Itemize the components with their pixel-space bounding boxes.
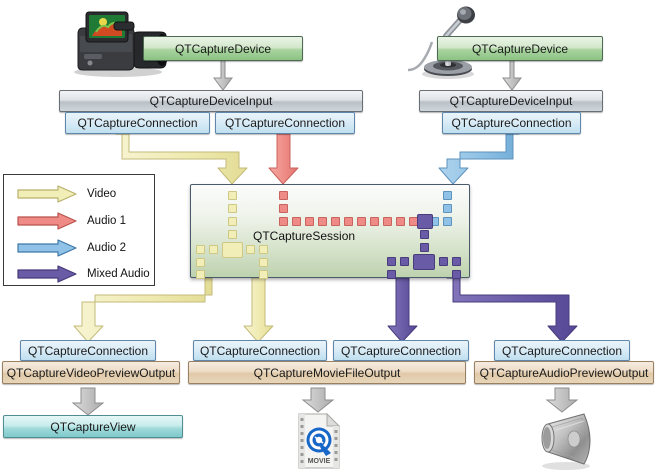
audio1-path-node	[370, 217, 379, 226]
video-path-node	[228, 204, 237, 213]
videopreview-connection-box[interactable]: QTCaptureConnection	[20, 340, 156, 361]
movie-file-icon-label: MOVIE	[308, 458, 331, 465]
audio2-connection-label: QTCaptureConnection	[451, 116, 571, 130]
arrow-audiopreview-to-speaker-icon	[547, 388, 577, 412]
arrow-session-to-moviefile-video	[244, 278, 273, 342]
movie-file-output-label: QTCaptureMovieFileOutput	[254, 366, 401, 380]
audiopreview-connection-label: QTCaptureConnection	[502, 344, 622, 358]
video-path-node	[259, 245, 268, 254]
moviefile-video-connection-label: QTCaptureConnection	[200, 344, 320, 358]
audio1-path-node	[344, 217, 353, 226]
arrow-audio2-to-session	[439, 134, 519, 184]
audio2-path-node	[443, 204, 452, 213]
mixed-audio-path-node	[387, 257, 396, 266]
arrow-session-to-moviefile-audio	[388, 278, 417, 342]
legend-arrow-mixed-audio-icon	[16, 265, 78, 283]
video-preview-output-label: QTCaptureVideoPreviewOutput	[7, 366, 176, 380]
video-path-node	[246, 245, 255, 254]
legend-arrow-video-icon	[16, 185, 78, 203]
legend-arrow-audio2-icon	[16, 239, 78, 257]
movie-file-output-box[interactable]: QTCaptureMovieFileOutput	[188, 361, 466, 384]
speaker-icon	[532, 410, 596, 472]
video-capture-device-label: QTCaptureDevice	[175, 42, 271, 56]
audio1-path-node	[396, 217, 405, 226]
video-capture-device-input-label: QTCaptureDeviceInput	[150, 94, 273, 108]
audio-capture-device-box[interactable]: QTCaptureDevice	[437, 36, 603, 61]
video-path-node	[196, 258, 205, 267]
qt-capture-session-label: QTCaptureSession	[253, 229, 355, 243]
audio1-path-node	[318, 217, 327, 226]
audio-capture-device-input-box[interactable]: QTCaptureDeviceInput	[419, 90, 603, 112]
video-path-node	[228, 230, 237, 239]
video-path-node	[196, 245, 205, 254]
audio-mixer-node	[417, 214, 433, 229]
audio1-path-node	[305, 217, 314, 226]
legend-panel: Video Audio 1 Audio 2 Mixed Audio	[3, 174, 155, 286]
moviefile-audio-connection-box[interactable]: QTCaptureConnection	[333, 340, 469, 361]
arrow-moviefile-to-file-icon	[303, 388, 333, 412]
video-capture-device-box[interactable]: QTCaptureDevice	[143, 36, 303, 61]
audio2-connection-box[interactable]: QTCaptureConnection	[442, 112, 581, 134]
qt-capture-view-label: QTCaptureView	[50, 420, 135, 434]
video-connection-label: QTCaptureConnection	[77, 116, 197, 130]
legend-label-mixed-audio: Mixed Audio	[87, 268, 150, 280]
mixed-audio-path-node	[452, 257, 461, 266]
videopreview-connection-label: QTCaptureConnection	[28, 344, 148, 358]
video-connection-box[interactable]: QTCaptureConnection	[65, 112, 210, 134]
arrow-videopreview-to-view	[73, 388, 103, 415]
qt-capture-session-box[interactable]: QTCaptureSession	[190, 184, 470, 278]
legend-label-video: Video	[87, 188, 116, 200]
mixed-audio-path-node	[420, 243, 429, 252]
video-path-node	[228, 217, 237, 226]
arrow-video-device-to-input	[214, 60, 232, 90]
diagram-canvas: QTCaptureDevice QTCaptureDeviceInput QTC…	[0, 0, 656, 476]
mixed-audio-path-node	[439, 257, 448, 266]
arrow-session-to-videopreview	[74, 278, 212, 342]
arrow-audio-device-to-input	[503, 60, 521, 90]
mixed-audio-path-node	[400, 257, 409, 266]
audio2-path-node	[443, 191, 452, 200]
audio1-connection-box[interactable]: QTCaptureConnection	[215, 112, 355, 134]
legend-label-audio2: Audio 2	[87, 242, 126, 254]
audio1-path-node	[292, 217, 301, 226]
audio1-path-node	[279, 217, 288, 226]
video-path-node	[228, 191, 237, 200]
moviefile-video-connection-box[interactable]: QTCaptureConnection	[193, 340, 327, 361]
mixed-audio-path-node	[452, 270, 461, 279]
arrow-audio1-to-session	[269, 134, 298, 184]
mixed-audio-path-node	[387, 270, 396, 279]
audio1-path-node	[383, 217, 392, 226]
audio1-path-node	[279, 191, 288, 200]
legend-arrow-audio1-icon	[16, 212, 78, 230]
mixed-audio-path-junction	[413, 254, 435, 270]
video-path-junction	[222, 242, 243, 258]
audio1-path-node	[331, 217, 340, 226]
video-capture-device-input-box[interactable]: QTCaptureDeviceInput	[59, 90, 363, 112]
audio-preview-output-label: QTCaptureAudioPreviewOutput	[480, 366, 649, 380]
legend-label-audio1: Audio 1	[87, 215, 126, 227]
audio-capture-device-input-label: QTCaptureDeviceInput	[450, 94, 573, 108]
audiopreview-connection-box[interactable]: QTCaptureConnection	[494, 340, 630, 361]
video-path-node	[209, 245, 218, 254]
audio1-path-node	[357, 217, 366, 226]
mixed-audio-path-node	[420, 230, 429, 239]
audio-capture-device-label: QTCaptureDevice	[472, 42, 568, 56]
audio1-path-node	[279, 204, 288, 213]
video-path-node	[259, 258, 268, 267]
video-preview-output-box[interactable]: QTCaptureVideoPreviewOutput	[2, 361, 180, 384]
movie-file-icon: MOVIE	[295, 412, 343, 472]
audio1-connection-label: QTCaptureConnection	[225, 116, 345, 130]
qt-capture-view-box[interactable]: QTCaptureView	[3, 415, 183, 438]
audio-preview-output-box[interactable]: QTCaptureAudioPreviewOutput	[474, 361, 654, 384]
audio2-path-node	[443, 217, 452, 226]
moviefile-audio-connection-label: QTCaptureConnection	[341, 344, 461, 358]
video-path-node	[196, 270, 205, 279]
arrow-session-to-audiopreview	[447, 278, 577, 342]
video-path-node	[259, 270, 268, 279]
